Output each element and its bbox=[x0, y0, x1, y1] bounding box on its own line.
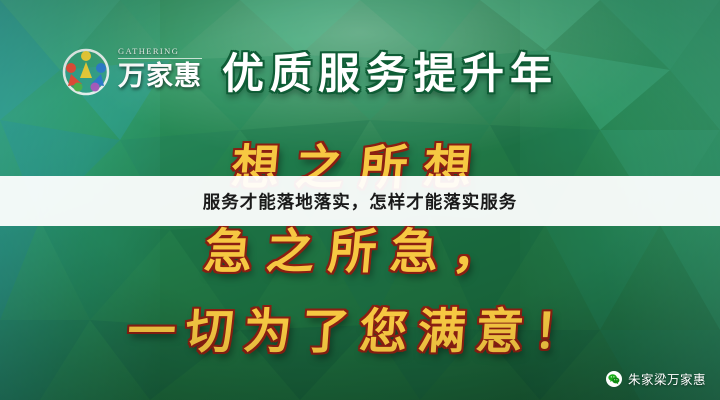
caption-band: 服务才能落地落实，怎样才能落实服务 bbox=[0, 176, 720, 226]
watermark-text: 朱家梁万家惠 bbox=[628, 369, 706, 388]
poster-image: GATHERING 万家惠 优质服务提升年 想之所想 急之所急， 一切为了您满意… bbox=[0, 0, 720, 400]
caption-text: 服务才能落地落实，怎样才能落实服务 bbox=[203, 189, 518, 214]
watermark: 朱家梁万家惠 bbox=[606, 369, 706, 388]
wechat-official-account-icon bbox=[606, 371, 622, 387]
